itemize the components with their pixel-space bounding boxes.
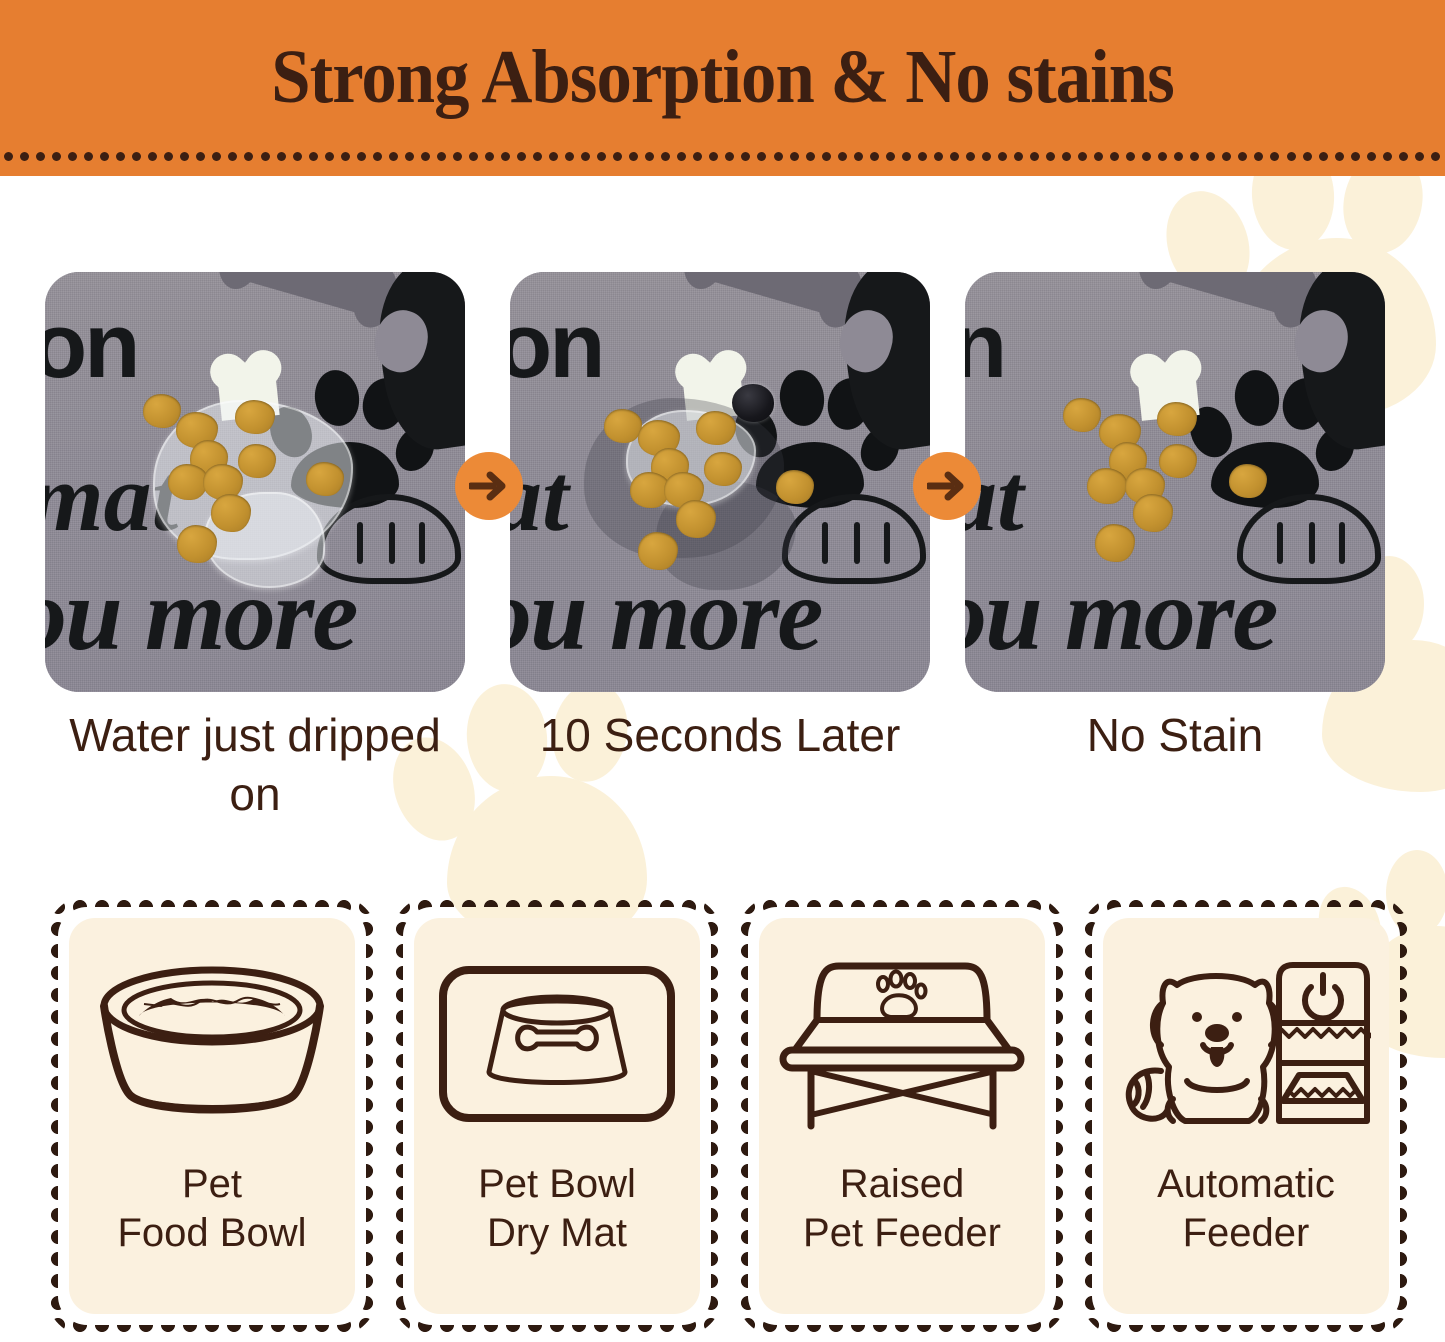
use-case-cards: Pet Food Bowl Pet Bowl Dry Mat <box>0 896 1445 1342</box>
kibble <box>238 444 276 478</box>
dog-silhouette-print <box>806 272 930 498</box>
kibble <box>1087 468 1127 504</box>
card-label-line2: Dry Mat <box>487 1211 627 1255</box>
kibble <box>1063 398 1101 432</box>
kibble <box>1229 464 1267 498</box>
kibble <box>1133 494 1173 532</box>
card-label-line1: Pet <box>182 1162 242 1206</box>
kibble <box>1095 524 1135 562</box>
caption-water-dripped: Water just dripped on <box>45 706 465 824</box>
card-label-line1: Automatic <box>1157 1162 1335 1206</box>
banner-dotted-divider <box>0 150 1445 162</box>
card-label-line2: Feeder <box>1183 1211 1310 1255</box>
mat-print-text-top: n <box>965 294 1004 399</box>
kibble <box>235 400 275 434</box>
caption-10-seconds: 10 Seconds Later <box>510 706 930 765</box>
use-case-card-automatic-feeder[interactable]: Automatic Feeder <box>1081 896 1411 1336</box>
card-inner-panel: Pet Bowl Dry Mat <box>414 918 700 1314</box>
use-case-card-pet-food-bowl[interactable]: Pet Food Bowl <box>47 896 377 1336</box>
power-button-icon <box>1305 975 1341 1018</box>
demo-photo-10-seconds: on at ou more <box>510 272 930 692</box>
water-droplet <box>732 384 774 422</box>
demo-photo-water-dripped: on mat ou more <box>45 272 465 692</box>
kibble <box>604 409 642 443</box>
arrow-right-icon <box>455 452 523 520</box>
pet-food-bowl-icon <box>87 934 337 1154</box>
card-inner-panel: Pet Food Bowl <box>69 918 355 1314</box>
mat-print-text-top: on <box>45 294 137 399</box>
card-inner-panel: Automatic Feeder <box>1103 918 1389 1314</box>
card-label: Pet Food Bowl <box>118 1160 307 1258</box>
kibble <box>168 464 208 500</box>
page-title: Strong Absorption & No stains <box>51 34 1395 121</box>
kibble <box>177 525 217 563</box>
kibble <box>143 394 181 428</box>
automatic-feeder-icon <box>1121 934 1371 1154</box>
absorption-demo-row: on mat ou more on at ou more <box>0 272 1445 692</box>
kibble <box>696 411 736 445</box>
kibble <box>1157 402 1197 436</box>
card-label: Automatic Feeder <box>1157 1160 1335 1258</box>
mat-print-text-top: on <box>510 294 602 399</box>
card-label: Raised Pet Feeder <box>803 1160 1001 1258</box>
demo-photo-no-stain: n at ou more <box>965 272 1385 692</box>
card-label-line1: Raised <box>840 1162 965 1206</box>
card-label-line2: Pet Feeder <box>803 1211 1001 1255</box>
card-label-line2: Food Bowl <box>118 1211 307 1255</box>
card-label-line1: Pet Bowl <box>478 1162 636 1206</box>
raised-pet-feeder-icon <box>777 934 1027 1154</box>
mat-print-text-bottom: ou more <box>510 555 821 674</box>
paw-icon <box>878 972 926 1018</box>
dog-silhouette-print <box>1261 272 1385 498</box>
mat-print-text-bottom: ou more <box>965 555 1276 674</box>
use-case-card-raised-pet-feeder[interactable]: Raised Pet Feeder <box>737 896 1067 1336</box>
header-banner: Strong Absorption & No stains <box>0 0 1445 176</box>
kibble <box>676 500 716 538</box>
kibble <box>211 494 251 532</box>
card-inner-panel: Raised Pet Feeder <box>759 918 1045 1314</box>
dog-icon <box>1129 976 1279 1121</box>
use-case-card-pet-bowl-dry-mat[interactable]: Pet Bowl Dry Mat <box>392 896 722 1336</box>
kibble <box>1159 444 1197 478</box>
kibble <box>306 462 344 496</box>
arrow-right-icon <box>913 452 981 520</box>
pet-bowl-dry-mat-icon <box>437 934 677 1154</box>
kibble <box>638 532 678 570</box>
card-label: Pet Bowl Dry Mat <box>478 1160 636 1258</box>
kibble <box>776 470 814 504</box>
caption-no-stain: No Stain <box>965 706 1385 765</box>
feeder-machine-icon <box>1279 965 1371 1121</box>
dog-silhouette-print <box>341 272 465 498</box>
kibble <box>704 452 742 486</box>
